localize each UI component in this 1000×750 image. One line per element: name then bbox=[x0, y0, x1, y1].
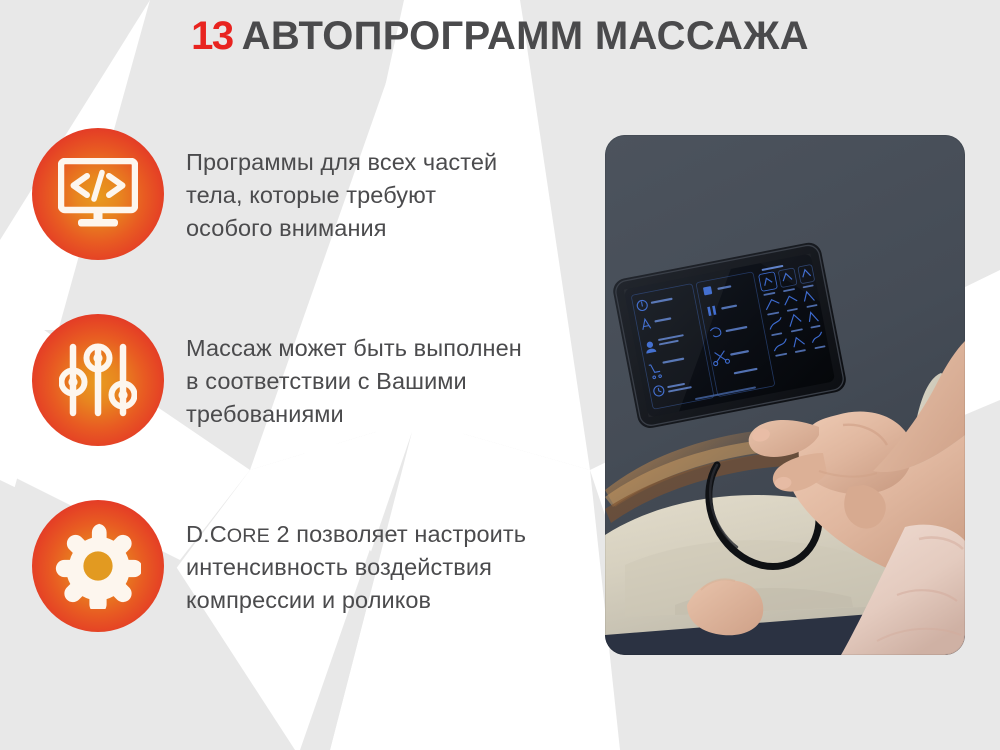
sliders-icon bbox=[32, 314, 164, 446]
feature-line: компрессии и роликов bbox=[186, 587, 431, 613]
monitor-code-icon bbox=[32, 128, 164, 260]
feature-line: Массаж может быть выполнен bbox=[186, 335, 522, 361]
feature-list: Программы для всех частей тела, которые … bbox=[32, 128, 592, 632]
feature-item-intensity: D.CORE 2 позволяет настроить интенсивнос… bbox=[32, 500, 592, 632]
feature-line: Программы для всех частей bbox=[186, 149, 497, 175]
feature-line: тела, которые требуют bbox=[186, 182, 436, 208]
page-title: 13АВТОПРОГРАММ МАССАЖА bbox=[0, 14, 1000, 59]
brand-smallcaps: ORE bbox=[227, 525, 270, 547]
feature-text-programs: Программы для всех частей тела, которые … bbox=[186, 128, 497, 245]
product-photo bbox=[605, 135, 965, 655]
infographic-slide: 13АВТОПРОГРАММ МАССАЖА bbox=[0, 0, 1000, 750]
feature-line: требованиями bbox=[186, 401, 344, 427]
feature-text-customization: Массаж может быть выполнен в соответстви… bbox=[186, 314, 522, 431]
title-label: АВТОПРОГРАММ МАССАЖА bbox=[242, 14, 809, 58]
brand-prefix: D.C bbox=[186, 521, 227, 547]
feature-item-programs: Программы для всех частей тела, которые … bbox=[32, 128, 592, 260]
gear-icon bbox=[32, 500, 164, 632]
feature-line: особого внимания bbox=[186, 215, 387, 241]
title-number: 13 bbox=[191, 14, 233, 58]
feature-text-intensity: D.CORE 2 позволяет настроить интенсивнос… bbox=[186, 500, 526, 617]
feature-item-customization: Массаж может быть выполнен в соответстви… bbox=[32, 314, 592, 446]
feature-line: 2 позволяет настроить bbox=[270, 521, 526, 547]
feature-line: интенсивность воздействия bbox=[186, 554, 492, 580]
feature-line: в соответствии с Вашими bbox=[186, 368, 467, 394]
